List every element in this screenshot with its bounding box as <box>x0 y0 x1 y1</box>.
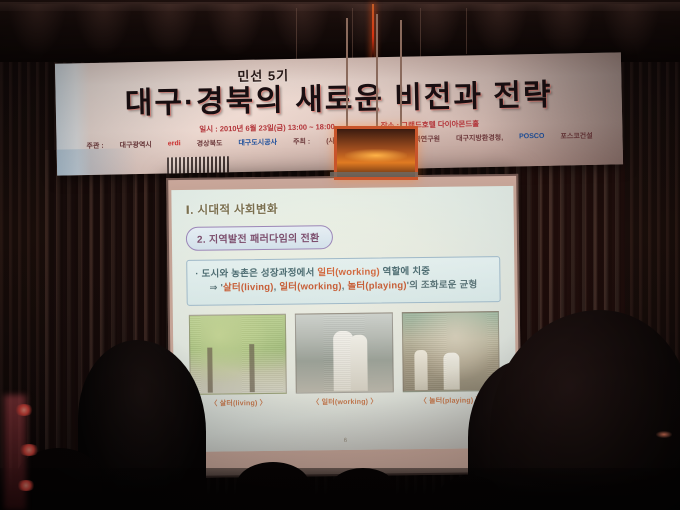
photo-grain <box>296 313 392 392</box>
valance-swag <box>8 4 66 56</box>
bullet-1-pre: 도시와 농촌은 성장과정에서 <box>202 267 318 279</box>
valance-swag <box>272 4 330 56</box>
slide-page-number: 6 <box>344 438 347 444</box>
sponsor-daegu-urban-corp: 대구도시공사 <box>238 137 277 148</box>
banner-corner-accent <box>57 148 138 176</box>
rigging-rope <box>466 8 467 54</box>
hanging-rope <box>376 14 378 128</box>
hanging-rope <box>346 18 348 128</box>
photo-grain <box>190 314 286 393</box>
rigging-rope <box>352 8 353 64</box>
valance-swag <box>404 4 462 56</box>
slide-section-heading: 2. 지역발전 패러다임의 전환 <box>186 225 333 251</box>
slide-caption-row: 〈 살터(living) 〉 〈 일터(working) 〉 〈 놀터(play… <box>188 395 502 409</box>
host-posco-enc: 포스코건설 <box>560 130 592 141</box>
host-posco: POSCO <box>519 133 544 141</box>
host-label: 주최 : <box>293 136 310 146</box>
valance-swag <box>74 4 132 56</box>
hanging-rope <box>400 20 402 128</box>
photo-playing <box>401 311 499 392</box>
bullet-1-highlight: 일터(working) <box>317 267 380 279</box>
decor-lamp-3 <box>16 480 36 491</box>
photo-grain <box>402 312 498 391</box>
auditorium-photo: 민선 5기 대구·경북의 새로운 비전과 전략 일시 : 2010년 6월 23… <box>0 0 680 510</box>
valance-swag <box>140 4 198 56</box>
caption-working: 〈 일터(working) 〉 <box>296 396 393 407</box>
valance-swag <box>536 4 594 56</box>
host-env-office: 대구지방환경청, <box>456 132 503 143</box>
bullet-2-post: '의 조화로운 균형 <box>407 280 478 292</box>
stage-light-beam <box>372 4 374 62</box>
slide-body-box: · 도시와 농촌은 성장과정에서 일터(working) 역할에 치중 ⇒ '살… <box>186 256 501 305</box>
bullet-2-working: 일터(working) <box>279 281 342 293</box>
slide-photo-row <box>187 311 502 395</box>
projected-slide: Ⅰ. 시대적 사회변화 2. 지역발전 패러다임의 전환 · 도시와 농촌은 성… <box>171 186 516 452</box>
banner-date: 일시 : 2010년 6월 23일(금) 13:00 ~ 18:00 <box>199 121 335 135</box>
slide-content: Ⅰ. 시대적 사회변화 2. 지역발전 패러다임의 전환 · 도시와 농촌은 성… <box>171 186 516 409</box>
caption-living: 〈 살터(living) 〉 <box>190 397 287 408</box>
valance-swag <box>602 4 660 56</box>
hanging-display-base <box>330 172 418 177</box>
photo-living <box>189 313 287 394</box>
bullet-1-post: 역할에 치중 <box>380 266 431 278</box>
valance-swag <box>206 4 264 56</box>
sponsor-daegu-city: 대구광역시 <box>120 139 152 150</box>
slide-bullet-2: ⇒ '살터(living), 일터(working), 놀터(playing)'… <box>195 278 491 296</box>
bullet-2-marker: ⇒ <box>209 283 217 294</box>
photo-working <box>295 312 393 393</box>
rigging-rope <box>296 8 297 60</box>
sponsor-label: 주관 : <box>86 140 103 150</box>
bullet-2-playing: 놀터(playing) <box>347 280 406 292</box>
foreground-shadow <box>0 468 680 510</box>
slide-title: Ⅰ. 시대적 사회변화 <box>185 198 499 218</box>
sponsor-gyeongbuk: 경상북도 <box>197 138 223 149</box>
valance-swag <box>470 4 528 56</box>
bullet-2-living: 살터(living) <box>223 282 274 294</box>
bullet-marker: · <box>195 269 199 280</box>
decor-lamp-2 <box>18 444 40 456</box>
decor-lamp-1 <box>14 404 34 416</box>
rigging-rope <box>420 8 421 58</box>
decor-lamp-right <box>656 431 672 438</box>
sponsor-erdi-logo: erdi <box>168 140 181 147</box>
